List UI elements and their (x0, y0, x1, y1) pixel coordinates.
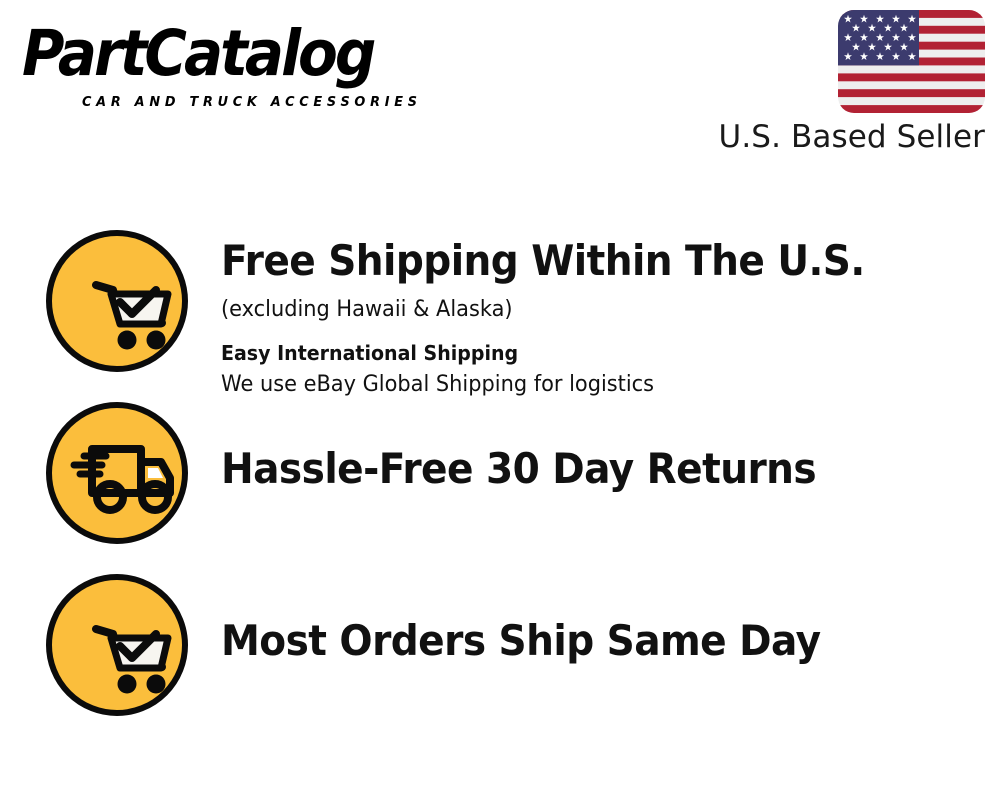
feature-subtitle: (excluding Hawaii & Alaska) (221, 294, 943, 325)
us-flag-icon (838, 10, 985, 113)
feature-text-block: Most Orders Ship Same Day (221, 616, 981, 666)
logo-wordmark: PartCatalog (22, 22, 373, 85)
feature-text-block: Free Shipping Within The U.S. (excluding… (221, 236, 981, 400)
feature-list: Free Shipping Within The U.S. (excluding… (0, 228, 1000, 744)
feature-row: Free Shipping Within The U.S. (excluding… (0, 228, 1000, 400)
us-based-seller-label: U.S. Based Seller (719, 118, 985, 156)
delivery-truck-icon (44, 400, 190, 546)
feature-text-block: Hassle-Free 30 Day Returns (221, 444, 981, 494)
page-header: PartCatalog CAR AND TRUCK ACCESSORIES (0, 0, 1000, 170)
feature-title: Hassle-Free 30 Day Returns (221, 444, 928, 494)
brand-logo[interactable]: PartCatalog CAR AND TRUCK ACCESSORIES (22, 22, 492, 120)
feature-row: Hassle-Free 30 Day Returns (0, 400, 1000, 572)
feature-title: Free Shipping Within The U.S. (221, 236, 928, 286)
cart-check-icon (44, 228, 190, 374)
feature-row: Most Orders Ship Same Day (0, 572, 1000, 744)
feature-subtitle-secondary: We use eBay Global Shipping for logistic… (221, 369, 943, 400)
feature-subtitle-bold: Easy International Shipping (221, 338, 943, 369)
feature-title: Most Orders Ship Same Day (221, 616, 928, 666)
logo-tagline: CAR AND TRUCK ACCESSORIES (82, 94, 422, 110)
cart-check-icon (44, 572, 190, 718)
